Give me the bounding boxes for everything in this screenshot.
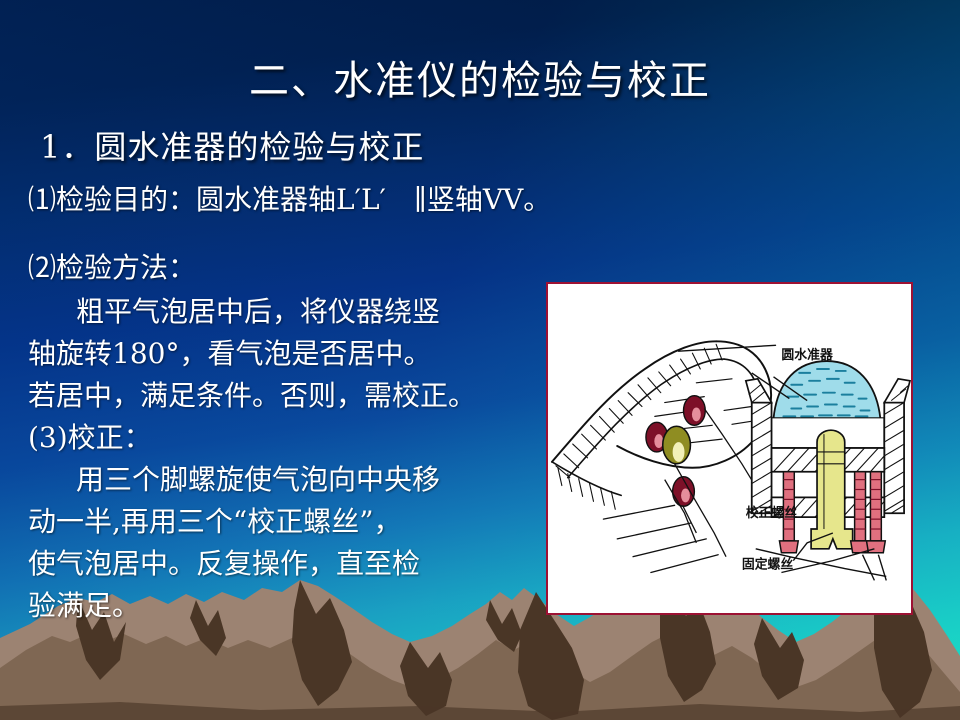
body-line-method-1: 粗平气泡居中后，将仪器绕竖 <box>28 294 440 330</box>
body-line-adjust-2: 动一半,再用三个“校正螺丝”， <box>28 504 402 540</box>
body-line-purpose: ⑴检验目的：圆水准器轴L′L′ ∥竖轴VV。 <box>28 182 551 218</box>
figure-label-adjust-screw: 校正螺丝 <box>746 505 798 521</box>
circular-level-diagram: 圆水准器 校正螺丝 固定螺丝 <box>546 282 913 615</box>
figure-label-bubble-level: 圆水准器 <box>781 347 833 363</box>
body-line-method-2: 轴旋转180°，看气泡是否居中。 <box>28 336 431 372</box>
slide-title: 二、水准仪的检验与校正 <box>0 48 960 106</box>
body-line-method-heading: ⑵检验方法： <box>28 250 196 286</box>
body-line-adjust-heading: (3)校正： <box>28 420 152 456</box>
body-line-method-3: 若居中，满足条件。否则，需校正。 <box>28 378 476 414</box>
body-line-adjust-1: 用三个脚螺旋使气泡向中央移 <box>28 462 440 498</box>
section-heading: 1．圆水准器的检验与校正 <box>40 122 424 168</box>
body-line-adjust-3: 使气泡居中。反复操作，直至检 <box>28 546 420 582</box>
body-line-adjust-4: 验满足。 <box>28 588 140 624</box>
presentation-slide: 二、水准仪的检验与校正 1．圆水准器的检验与校正 ⑴检验目的：圆水准器轴L′L′… <box>0 0 960 720</box>
figure-label-fixing-screw: 固定螺丝 <box>742 557 794 573</box>
